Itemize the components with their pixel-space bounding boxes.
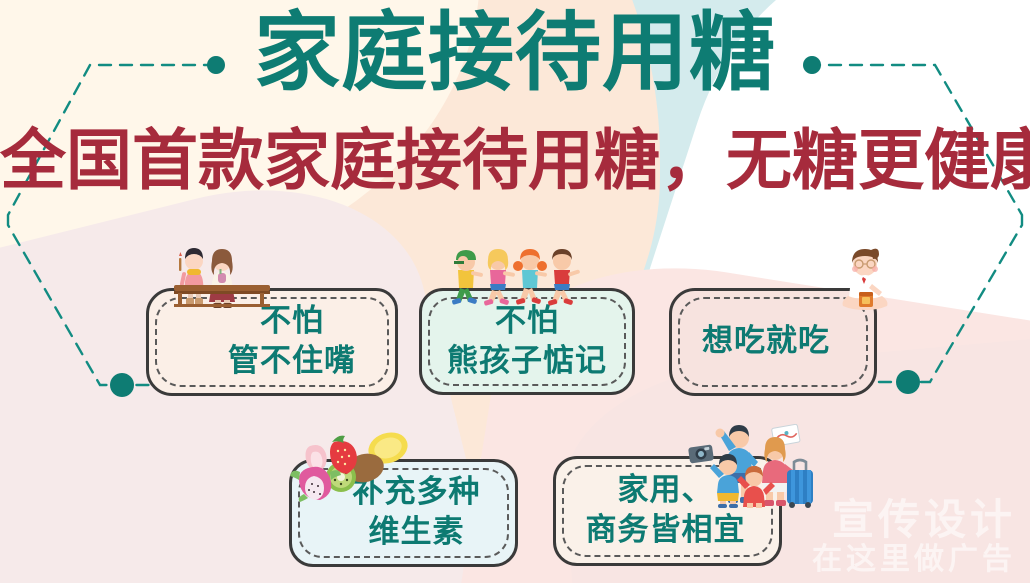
watermark: 宣传设计 在这里做广告 bbox=[812, 496, 1016, 577]
feature-card-5[interactable]: 家用、 商务皆相宜 bbox=[553, 456, 782, 566]
feature-card-2[interactable]: 不怕 熊孩子惦记 bbox=[419, 288, 635, 395]
feature-card-1-label: 不怕 管不住嘴 bbox=[174, 302, 370, 381]
watermark-line-2: 在这里做广告 bbox=[812, 543, 1016, 577]
headline-block: 家庭接待用糖 bbox=[0, 0, 1030, 102]
feature-card-4-label: 补充多种 维生素 bbox=[313, 473, 495, 552]
watermark-line-1: 宣传设计 bbox=[812, 496, 1016, 543]
poster-canvas: 家庭接待用糖 全国首款家庭接待用糖，无糖更健康 不怕 管不住嘴 bbox=[0, 0, 1030, 583]
feature-card-3[interactable]: 想吃就吃 bbox=[669, 288, 877, 396]
feature-card-3-label: 想吃就吃 bbox=[688, 322, 858, 362]
page-subtitle: 全国首款家庭接待用糖，无糖更健康 bbox=[0, 128, 1030, 194]
feature-card-4[interactable]: 补充多种 维生素 bbox=[289, 459, 518, 567]
feature-card-1[interactable]: 不怕 管不住嘴 bbox=[146, 288, 398, 396]
feature-card-2-label: 不怕 熊孩子惦记 bbox=[433, 302, 621, 381]
feature-card-5-label: 家用、 商务皆相宜 bbox=[572, 471, 764, 550]
page-title: 家庭接待用糖 bbox=[0, 0, 1030, 102]
